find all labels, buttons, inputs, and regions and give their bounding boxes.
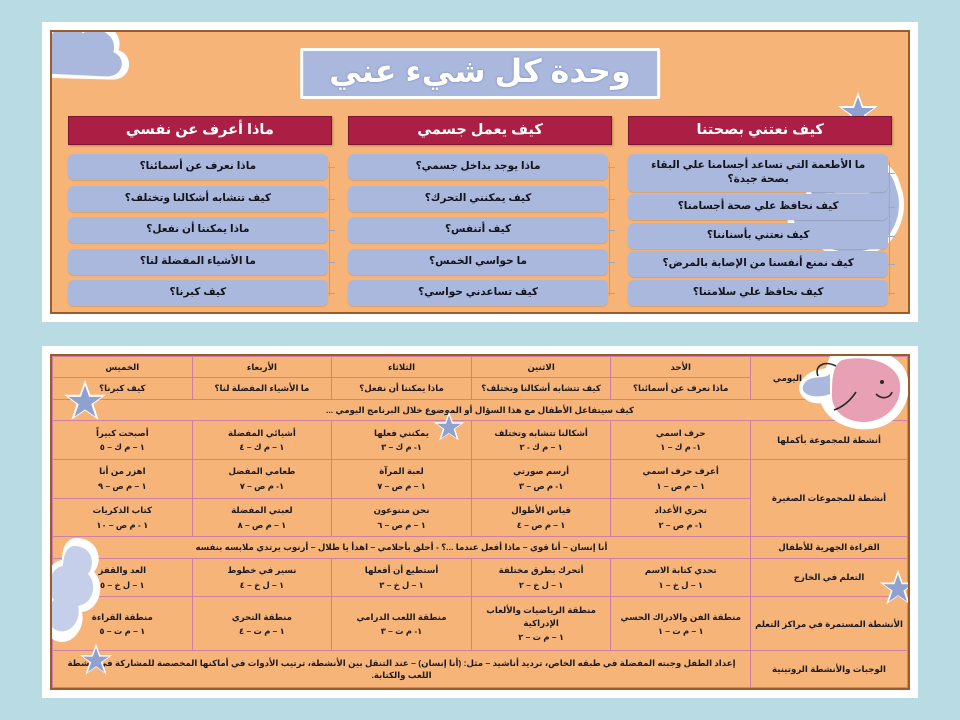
table-row-days: السؤال أو الموضوع اليومي الأحد الاثنين ا… bbox=[53, 357, 908, 378]
activity-title: أعرف حرف اسمي bbox=[643, 466, 719, 476]
table-row-banner: كيف سيتفاعل الأطفال مع هذا السؤال أو الم… bbox=[53, 399, 908, 420]
column-heading-body[interactable]: كيف يعمل جسمي bbox=[348, 116, 612, 145]
star-icon bbox=[62, 378, 108, 427]
banner-text: كيف سيتفاعل الأطفال مع هذا السؤال أو الم… bbox=[53, 399, 908, 420]
activity-title: اهزر من أنا bbox=[99, 466, 145, 476]
column-self: ماذا أعرف عن نفسي ماذا نعرف عن أسمائنا؟ … bbox=[68, 116, 332, 306]
activity-title: أتحرك بطرق مختلفة bbox=[499, 565, 584, 575]
activity-cell[interactable]: نحن متنوعون ١ – م ص – ٦ bbox=[332, 498, 472, 537]
activity-cell[interactable]: أتحرك بطرق مختلفة ١ – ل خ – ٢ bbox=[471, 558, 611, 597]
concept-node[interactable]: ما حواسي الخمس؟ bbox=[348, 249, 608, 275]
activity-title: نحن متنوعون bbox=[374, 505, 430, 515]
star-icon bbox=[78, 642, 114, 681]
activity-cell[interactable]: طعامي المفضل ١- م ص – ٧ bbox=[192, 459, 332, 498]
column-items-self: ماذا نعرف عن أسمائنا؟ كيف تتشابه أشكالنا… bbox=[68, 154, 332, 306]
activity-cell[interactable]: حرف اسمي ١- م ك – ١ bbox=[611, 421, 751, 460]
activity-cell[interactable]: أعرف حرف اسمي ١ – م ص – ١ bbox=[611, 459, 751, 498]
activity-code: ١ – ل خ – ١ bbox=[614, 579, 747, 591]
concept-node[interactable]: ماذا يوجد بداخل جسمي؟ bbox=[348, 154, 608, 180]
column-body: كيف يعمل جسمي ماذا يوجد بداخل جسمي؟ كيف … bbox=[348, 116, 612, 306]
column-items-body: ماذا يوجد بداخل جسمي؟ كيف يمكنني التحرك؟… bbox=[348, 154, 612, 306]
activity-code: ١ – م ك – ٤ bbox=[196, 441, 329, 453]
concept-node[interactable]: كيف تتشابه أشكالنا وتختلف؟ bbox=[68, 186, 328, 212]
activity-code: ١ – م ت – ٤ bbox=[196, 625, 329, 637]
slide-root: وحدة كل شيء عني كيف نعتني بصحتنا ما الأط… bbox=[0, 0, 960, 720]
concept-node[interactable]: كيف يمكنني التحرك؟ bbox=[348, 186, 608, 212]
activity-cell[interactable]: أشكالنا تتشابه وتختلف ١ – م ك - ٢ bbox=[471, 421, 611, 460]
activity-cell[interactable]: منطقة التحري ١ – م ت – ٤ bbox=[192, 597, 332, 651]
activity-cell[interactable]: اهزر من أنا ١ – م ص – ٩ bbox=[53, 459, 193, 498]
activity-cell[interactable]: لعبتي المفضلة ١ – م ص – ٨ bbox=[192, 498, 332, 537]
day-header-cell: الأربعاء bbox=[192, 357, 332, 378]
activity-title: قياس الأطوال bbox=[511, 505, 571, 515]
activity-code: ١ – م ص – ٨ bbox=[196, 519, 329, 531]
cloud-decoration-left-icon bbox=[50, 532, 112, 657]
activity-code: ١ – م ت – ٢ bbox=[475, 631, 608, 643]
activity-title: حرف اسمي bbox=[656, 428, 706, 438]
activity-title: لعبة المرآة bbox=[379, 466, 423, 476]
concept-node[interactable]: ماذا يمكننا أن نفعل؟ bbox=[68, 217, 328, 243]
concept-node[interactable]: ما الأشياء المفضلة لنا؟ bbox=[68, 249, 328, 275]
activity-cell[interactable]: منطقة الفن والادراك الحسي ١ – م ت – ١ bbox=[611, 597, 751, 651]
concept-node[interactable]: كيف نحافظ علي صحة أجسامنا؟ bbox=[628, 194, 888, 220]
activity-code: ١ – م ص – ٧ bbox=[335, 480, 468, 492]
table-row-read-aloud: القراءة الجهرية للأطفال أنا إنسان – أنا … bbox=[53, 537, 908, 558]
page-title: وحدة كل شيء عني bbox=[300, 48, 660, 99]
activity-code: ١ – م ك – ٥ bbox=[56, 441, 189, 453]
activity-title: نسير في خطوط bbox=[228, 565, 297, 575]
read-aloud-text[interactable]: أنا إنسان – أنا قوي – ماذا أفعل عندما ..… bbox=[53, 537, 751, 558]
day-header-cell: الثلاثاء bbox=[332, 357, 472, 378]
column-heading-health[interactable]: كيف نعتني بصحتنا bbox=[628, 116, 892, 145]
table-row-small-group-a: أنشطة للمجموعات الصغيرة أعرف حرف اسمي ١ … bbox=[53, 459, 908, 498]
table-row-learning-centers: الأنشطة المستمرة في مراكز التعلم منطقة ا… bbox=[53, 597, 908, 651]
activity-cell[interactable]: نسير في خطوط ١ – ل خ – ٤ bbox=[192, 558, 332, 597]
table-row-routines: الوجبات والأنشطة الروتينية إعداد الطفل و… bbox=[53, 651, 908, 688]
concept-node[interactable]: ماذا نعرف عن أسمائنا؟ bbox=[68, 154, 328, 180]
weekly-plan-panel: السؤال أو الموضوع اليومي الأحد الاثنين ا… bbox=[42, 346, 918, 698]
activity-title: منطقة اللعب الدرامي bbox=[356, 612, 446, 622]
activity-code: ١ – م ص – ٦ bbox=[335, 519, 468, 531]
concept-columns: كيف نعتني بصحتنا ما الأطعمة التي تساعد أ… bbox=[52, 116, 908, 306]
activity-title: أصبحت كبيراً bbox=[96, 428, 149, 438]
table-row-whole-group: أنشطة للمجموعة بأكملها حرف اسمي ١- م ك –… bbox=[53, 421, 908, 460]
activity-title: أشيائي المفضلة bbox=[228, 428, 296, 438]
activity-cell[interactable]: تحري الأعداد ١- م ص – ٢ bbox=[611, 498, 751, 537]
activity-code: ١- م ص – ٧ bbox=[196, 480, 329, 492]
activity-code: ١ – م ص – ٩ bbox=[56, 480, 189, 492]
activity-code: ١- م ص – ٣ bbox=[475, 480, 608, 492]
activity-code: ١ – م ص – ٤ bbox=[475, 519, 608, 531]
topic-cell[interactable]: ما الأشياء المفضلة لنا؟ bbox=[192, 378, 332, 399]
row-label-routines: الوجبات والأنشطة الروتينية bbox=[751, 651, 908, 688]
activity-code: ١ – ل خ – ٣ bbox=[335, 579, 468, 591]
activity-title: يمكنني فعلها bbox=[374, 428, 429, 438]
concept-map-body: وحدة كل شيء عني كيف نعتني بصحتنا ما الأط… bbox=[50, 30, 910, 314]
activity-title: كتاب الذكريات bbox=[93, 505, 152, 515]
column-health: كيف نعتني بصحتنا ما الأطعمة التي تساعد أ… bbox=[628, 116, 892, 306]
activity-title: منطقة الرياضيات والألعاب الإدراكية bbox=[486, 605, 596, 627]
weekly-plan-table: السؤال أو الموضوع اليومي الأحد الاثنين ا… bbox=[52, 356, 908, 688]
column-items-health: ما الأطعمة التي تساعد أجسامنا علي البقاء… bbox=[628, 154, 892, 306]
character-decoration-icon bbox=[790, 354, 910, 437]
row-label-small-groups: أنشطة للمجموعات الصغيرة bbox=[751, 459, 908, 536]
column-heading-self[interactable]: ماذا أعرف عن نفسي bbox=[68, 116, 332, 145]
activity-code: ١ – ل خ – ٤ bbox=[196, 579, 329, 591]
activity-code: ١ – م ص – ١ bbox=[614, 480, 747, 492]
concept-node[interactable]: كيف كبرنا؟ bbox=[68, 280, 328, 306]
table-row-outdoor: التعلم في الخارج تحدي كتابة الاسم ١ – ل … bbox=[53, 558, 908, 597]
row-label-read-aloud: القراءة الجهرية للأطفال bbox=[751, 537, 908, 558]
activity-cell[interactable]: لعبة المرآة ١ – م ص – ٧ bbox=[332, 459, 472, 498]
day-header-cell: الاثنين bbox=[471, 357, 611, 378]
activity-code: ١- م ت – ٣ bbox=[335, 625, 468, 637]
activity-title: طعامي المفضل bbox=[229, 466, 296, 476]
activity-title: لعبتي المفضلة bbox=[231, 505, 292, 515]
activity-cell[interactable]: أستطيع أن أفعلها ١ – ل خ – ٣ bbox=[332, 558, 472, 597]
topic-cell[interactable]: ماذا يمكننا أن نفعل؟ bbox=[332, 378, 472, 399]
activity-code: ١ – م ت – ١ bbox=[614, 625, 747, 637]
activity-code: ١ – ل خ – ٢ bbox=[475, 579, 608, 591]
activity-cell[interactable]: أشيائي المفضلة ١ – م ك – ٤ bbox=[192, 421, 332, 460]
activity-cell[interactable]: منطقة الرياضيات والألعاب الإدراكية ١ – م… bbox=[471, 597, 611, 651]
topic-cell[interactable]: ماذا نعرف عن أسمائنا؟ bbox=[611, 378, 751, 399]
activity-cell[interactable]: أرسم صورتي ١- م ص – ٣ bbox=[471, 459, 611, 498]
concept-node[interactable]: ما الأطعمة التي تساعد أجسامنا علي البقاء… bbox=[628, 154, 888, 192]
concept-node[interactable]: كيف أتنفس؟ bbox=[348, 217, 608, 243]
activity-title: أرسم صورتي bbox=[513, 466, 569, 476]
activity-title: أستطيع أن أفعلها bbox=[365, 565, 439, 575]
topic-cell[interactable]: كيف تتشابه أشكالنا وتختلف؟ bbox=[471, 378, 611, 399]
activity-title: منطقة الفن والادراك الحسي bbox=[620, 612, 741, 622]
concept-node[interactable]: كيف نعتني بأسناننا؟ bbox=[628, 223, 888, 249]
day-header-cell: الخميس bbox=[53, 357, 193, 378]
activity-title: منطقة التحري bbox=[232, 612, 292, 622]
activity-title: تحدي كتابة الاسم bbox=[645, 565, 717, 575]
concept-node[interactable]: كيف نحافظ علي سلامتنا؟ bbox=[628, 280, 888, 306]
star-icon bbox=[878, 568, 910, 611]
activity-code: ١ - م ص – ١٠ bbox=[56, 519, 189, 531]
concept-node[interactable]: كيف نمنع أنفسنا من الإصابة بالمرض؟ bbox=[628, 251, 888, 277]
activity-title: تحري الأعداد bbox=[654, 505, 707, 515]
concept-map-panel: وحدة كل شيء عني كيف نعتني بصحتنا ما الأط… bbox=[42, 22, 918, 322]
activity-cell[interactable]: منطقة اللعب الدرامي ١- م ت – ٣ bbox=[332, 597, 472, 651]
star-icon bbox=[432, 410, 466, 447]
activity-title: أشكالنا تتشابه وتختلف bbox=[494, 428, 588, 438]
weekly-plan-body: السؤال أو الموضوع اليومي الأحد الاثنين ا… bbox=[50, 354, 910, 690]
day-header-cell: الأحد bbox=[611, 357, 751, 378]
routines-text[interactable]: إعداد الطفل وجبته المفضلة في طبقه الخاص،… bbox=[53, 651, 751, 688]
activity-code: ١ – م ك - ٢ bbox=[475, 441, 608, 453]
activity-cell[interactable]: قياس الأطوال ١ – م ص – ٤ bbox=[471, 498, 611, 537]
activity-code: ١- م ص – ٢ bbox=[614, 519, 747, 531]
activity-code: ١- م ك – ١ bbox=[614, 441, 747, 453]
activity-cell[interactable]: كتاب الذكريات ١ - م ص – ١٠ bbox=[53, 498, 193, 537]
activity-cell[interactable]: تحدي كتابة الاسم ١ – ل خ – ١ bbox=[611, 558, 751, 597]
concept-node[interactable]: كيف تساعدني حواسي؟ bbox=[348, 280, 608, 306]
